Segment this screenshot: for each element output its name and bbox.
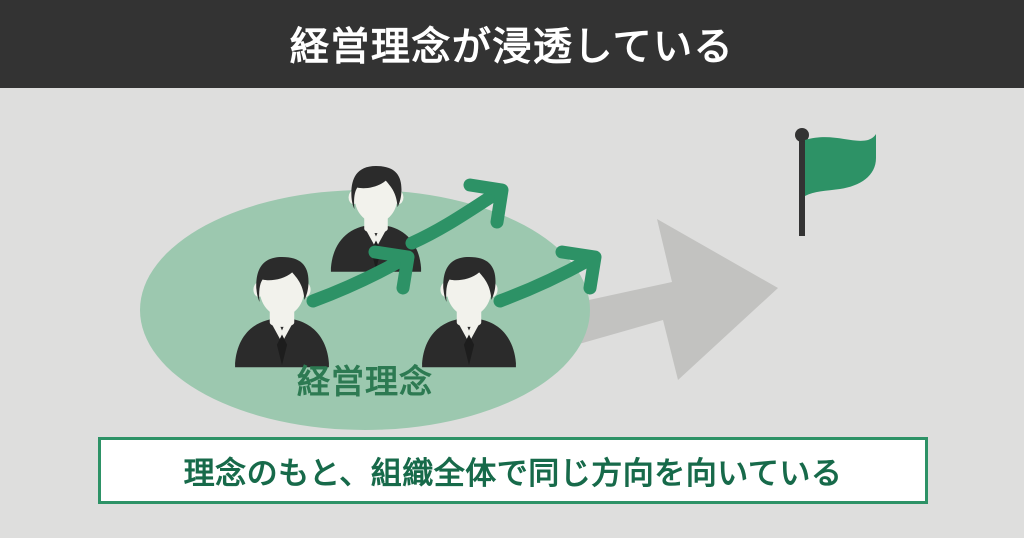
caption-box: 理念のもと、組織全体で同じ方向を向いている [98, 437, 928, 504]
ellipse-label: 経営理念 [297, 363, 433, 400]
page-title: 経営理念が浸透している [0, 0, 1024, 88]
slide-canvas: 経営理念が浸透している [0, 0, 1024, 538]
caption-text: 理念のもと、組織全体で同じ方向を向いている [184, 448, 843, 493]
goal-flag-icon [795, 128, 876, 236]
